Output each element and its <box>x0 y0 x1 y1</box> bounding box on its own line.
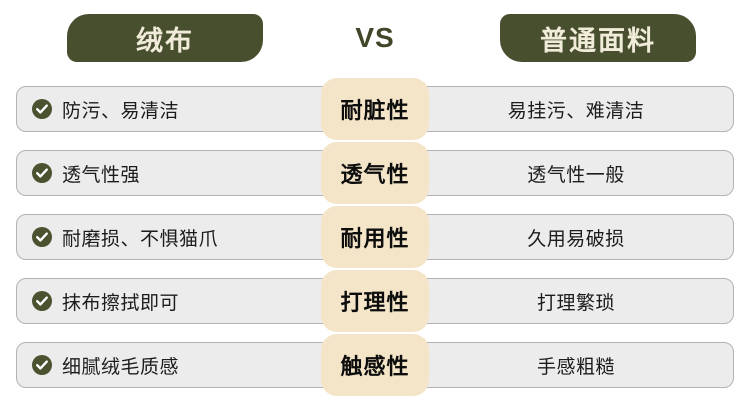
row-right-label: 打理繁琐 <box>537 288 615 315</box>
check-circle-icon <box>31 226 53 248</box>
table-row: 防污、易清洁 耐脏性 易挂污、难清洁 <box>0 86 750 132</box>
vs-separator: VS <box>330 14 420 62</box>
row-left-label: 耐磨损、不惧猫爪 <box>62 224 218 251</box>
row-left-cell: 透气性强 <box>16 150 332 196</box>
table-header: 绒布 VS 普通面料 <box>0 0 750 78</box>
table-row: 透气性强 透气性 透气性一般 <box>0 150 750 196</box>
row-right-label: 手感粗糙 <box>537 352 615 379</box>
row-left-label: 细腻绒毛质感 <box>62 352 179 379</box>
check-circle-icon <box>31 354 53 376</box>
row-attribute-cell: 触感性 <box>321 334 429 396</box>
row-attribute-label: 打理性 <box>340 285 409 317</box>
comparison-rows: 防污、易清洁 耐脏性 易挂污、难清洁 透气性强 透气性 透气性一般 <box>0 78 750 411</box>
row-attribute-label: 触感性 <box>340 349 409 381</box>
row-right-label: 透气性一般 <box>527 160 625 187</box>
row-attribute-cell: 透气性 <box>321 142 429 204</box>
row-right-label: 久用易破损 <box>527 224 625 251</box>
header-badge-left-label: 绒布 <box>136 19 194 58</box>
row-right-cell: 久用易破损 <box>418 214 734 260</box>
row-left-label: 抹布擦拭即可 <box>62 288 179 315</box>
header-badge-right-label: 普通面料 <box>540 19 656 58</box>
row-left-cell: 耐磨损、不惧猫爪 <box>16 214 332 260</box>
row-right-cell: 透气性一般 <box>418 150 734 196</box>
row-right-cell: 易挂污、难清洁 <box>418 86 734 132</box>
table-row: 抹布擦拭即可 打理性 打理繁琐 <box>0 278 750 324</box>
table-row: 细腻绒毛质感 触感性 手感粗糙 <box>0 342 750 388</box>
row-attribute-cell: 耐用性 <box>321 206 429 268</box>
row-attribute-label: 透气性 <box>340 157 409 189</box>
row-left-cell: 细腻绒毛质感 <box>16 342 332 388</box>
row-attribute-cell: 打理性 <box>321 270 429 332</box>
check-circle-icon <box>31 162 53 184</box>
row-left-cell: 防污、易清洁 <box>16 86 332 132</box>
check-circle-icon <box>31 98 53 120</box>
check-circle-icon <box>31 290 53 312</box>
row-left-cell: 抹布擦拭即可 <box>16 278 332 324</box>
row-right-cell: 手感粗糙 <box>418 342 734 388</box>
header-badge-left: 绒布 <box>67 14 263 62</box>
row-attribute-cell: 耐脏性 <box>321 78 429 140</box>
vs-separator-label: VS <box>355 22 394 54</box>
table-row: 耐磨损、不惧猫爪 耐用性 久用易破损 <box>0 214 750 260</box>
row-left-label: 透气性强 <box>62 160 140 187</box>
row-left-label: 防污、易清洁 <box>62 96 179 123</box>
row-attribute-label: 耐用性 <box>340 221 409 253</box>
header-badge-right: 普通面料 <box>500 14 696 62</box>
row-attribute-label: 耐脏性 <box>340 93 409 125</box>
comparison-table: 绒布 VS 普通面料 防污、易清洁 耐脏性 易挂污、难清洁 <box>0 0 750 411</box>
row-right-cell: 打理繁琐 <box>418 278 734 324</box>
row-right-label: 易挂污、难清洁 <box>508 96 645 123</box>
